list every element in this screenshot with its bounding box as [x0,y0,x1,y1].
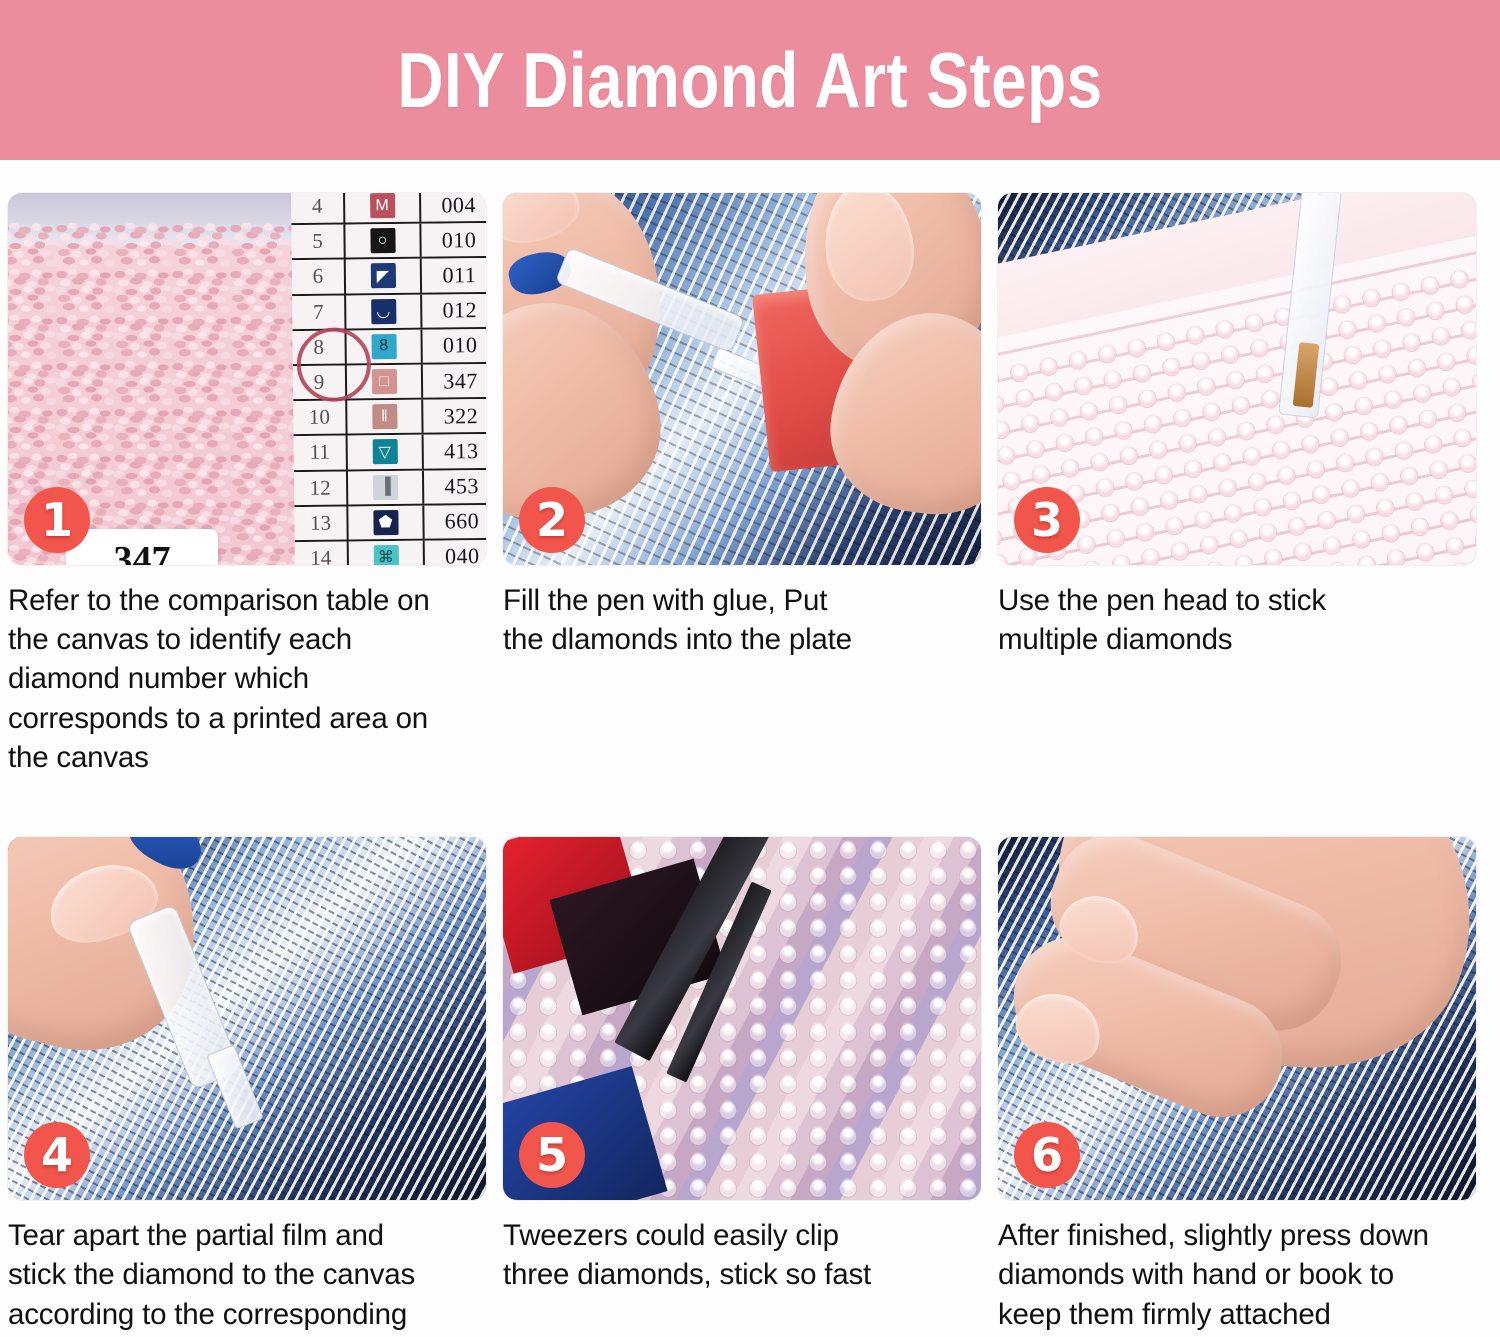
chart-row: 5○010 [291,223,486,260]
step-caption-5: Tweezers could easily clip three diamond… [503,1216,986,1294]
chart-row-code: 004 [421,193,486,218]
steps-row-top: 347 4M004 5○010 6◤011 7◡012 88010 9□347 … [8,193,1493,777]
step-caption-4: Tear apart the partial film and stick th… [8,1216,491,1337]
step-card-1: 347 4M004 5○010 6◤011 7◡012 88010 9□347 … [8,193,503,777]
chart-row-code: 040 [425,543,486,565]
chart-row-number: 14 [295,545,347,565]
chart-row: 14⌘040 [295,540,486,565]
chart-row-symbol: ◤ [344,259,422,293]
chart-row-code: 011 [422,262,486,289]
chart-row-number: 6 [292,264,344,290]
chart-row-code: 347 [423,367,486,394]
step-image-5: 5 [503,837,981,1200]
symbol-chip: 8 [371,334,396,359]
chart-row-symbol: M [343,193,421,223]
symbol-chip: ○ [370,228,395,253]
symbol-chip: ⌘ [373,545,398,565]
chart-row-code: 010 [423,332,486,359]
chart-row-symbol: ⌘ [347,541,425,565]
symbol-chip: ◤ [370,263,395,288]
symbol-chip: ◡ [371,299,396,324]
steps-row-bottom: 4 Tear apart the partial film and stick … [8,837,1493,1337]
step-image-6: 6 [998,837,1476,1200]
step-card-2: 2 Fill the pen with glue, Put the dlamon… [503,193,998,777]
step-badge-1: 1 [24,487,90,553]
chart-row: 13⬟660 [294,505,486,542]
step-image-1: 347 4M004 5○010 6◤011 7◡012 88010 9□347 … [8,193,486,565]
step-image-2: 2 [503,193,981,565]
chart-row: 6◤011 [292,258,486,295]
chart-row-number: 7 [292,299,344,325]
chart-row-number: 13 [294,510,346,536]
step-caption-1: Refer to the comparison table on the can… [8,581,491,777]
chart-row-code: 660 [424,508,486,535]
chart-row-number: 4 [291,194,343,220]
symbol-chip: ▐ [372,475,397,500]
step-card-5: 5 Tweezers could easily clip three diamo… [503,837,998,1337]
symbol-chip: □ [371,369,396,394]
step-card-3: 3 Use the pen head to stick multiple dia… [998,193,1493,777]
chart-row-code: 322 [423,403,486,430]
chart-row-symbol: ○ [343,224,421,258]
step-badge-2: 2 [519,487,585,553]
chart-row-code: 413 [424,438,486,465]
symbol-chip: ‖ [372,404,397,429]
chart-row-number: 5 [291,229,343,255]
step-caption-2: Fill the pen with glue, Put the dlamonds… [503,581,986,659]
chart-row: 4M004 [291,193,486,225]
chart-row-number: 10 [293,405,345,431]
symbol-chip: ▽ [372,439,397,464]
symbol-chip: ⬟ [373,510,398,535]
step-card-6: 6 After finished, slightly press down di… [998,837,1493,1337]
chart-row: 7◡012 [292,293,486,330]
symbol-chip: M [370,193,395,218]
drill-number-label: 347 [66,529,218,565]
step-badge-6: 6 [1014,1122,1080,1188]
chart-row-symbol: ▐ [346,470,424,504]
color-comparison-chart: 4M004 5○010 6◤011 7◡012 88010 9□347 10‖3… [291,193,486,565]
chart-row-number: 11 [294,440,346,466]
chart-row: 12▐453 [294,469,486,506]
step-caption-3: Use the pen head to stick multiple diamo… [998,581,1481,659]
step-badge-4: 4 [24,1122,90,1188]
chart-row-code: 012 [422,297,486,324]
step-badge-3: 3 [1014,487,1080,553]
page-header: DIY Diamond Art Steps [0,0,1500,160]
chart-row-number: 12 [294,475,346,501]
chart-row: 10‖322 [293,399,486,436]
step-image-3: 3 [998,193,1476,565]
step-badge-5: 5 [519,1122,585,1188]
chart-row: 11▽413 [294,434,486,471]
step-card-4: 4 Tear apart the partial film and stick … [8,837,503,1337]
chart-row-code: 010 [421,227,486,254]
chart-row-symbol: ‖ [345,400,423,434]
step-caption-6: After finished, slightly press down diam… [998,1216,1481,1334]
chart-row-code: 453 [424,473,486,500]
steps-grid: 347 4M004 5○010 6◤011 7◡012 88010 9□347 … [8,193,1493,1337]
infographic-page: DIY Diamond Art Steps 347 4M004 5○010 6◤… [0,0,1500,1337]
chart-row-symbol: ▽ [346,435,424,469]
page-title: DIY Diamond Art Steps [397,35,1102,126]
chart-row-symbol: ◡ [344,294,422,328]
chart-row-symbol: ⬟ [346,505,424,539]
step-image-4: 4 [8,837,486,1200]
circle-annotation-icon [296,327,371,402]
